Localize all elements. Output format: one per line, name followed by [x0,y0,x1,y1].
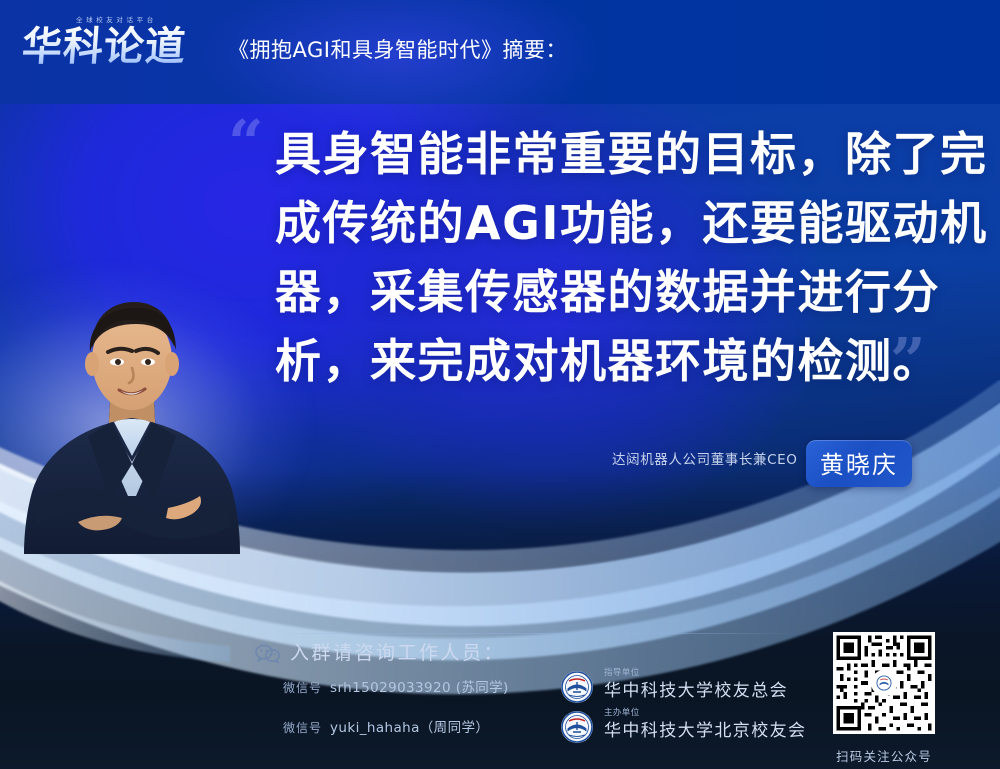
quote-close-mark: ” [890,330,926,392]
contact-row: 微信号srh15029033920 (苏同学) [283,676,509,696]
brand-logo: 全球校友对话平台 华科论道 [22,14,218,78]
wechat-icon [255,644,281,664]
quote-line: 器，采集传感器的数据并进行分 [275,258,945,327]
qr-center-logo [873,672,895,694]
qr-section: 扫码关注公众号 [833,632,935,765]
logo-wordmark: 华科论道 [20,22,187,72]
quote-text: 具身智能非常重要的目标，除了完 成传统的AGI功能，还要能驱动机 器，采集传感器… [275,120,945,396]
quote-line: 析，来完成对机器环境的检测。 [275,327,945,396]
hust-seal-icon [560,670,594,704]
contact-value: srh15029033920 (苏同学) [330,680,509,696]
quote-line: 具身智能非常重要的目标，除了完 [275,120,945,189]
contact-value: yuki_hahaha（周同学） [330,720,489,736]
contact-label: 微信号 [283,721,322,735]
organization-name: 华中科技大学校友总会 [604,676,788,701]
footer-divider [272,633,800,634]
quote-open-mark: “ [228,112,264,174]
quote-line: 成传统的AGI功能，还要能驱动机 [275,189,945,258]
speaker-portrait [18,286,246,554]
poster-canvas: 全球校友对话平台 华科论道 《拥抱AGI和具身智能时代》摘要： [0,0,1000,769]
speaker-name-badge: 黄晓庆 [806,440,912,487]
contact-label: 微信号 [283,681,322,695]
join-instruction: 入群请咨询工作人员： [290,638,505,665]
speaker-title: 达闼机器人公司董事长兼CEO [612,448,797,468]
contact-row: 微信号yuki_hahaha（周同学） [283,716,489,736]
speaker-name: 黄晓庆 [820,451,898,479]
organization-name: 华中科技大学北京校友会 [604,716,806,741]
page-title: 《拥抱AGI和具身智能时代》摘要： [228,34,567,64]
hust-seal-icon [560,710,594,744]
qr-caption: 扫码关注公众号 [833,746,935,765]
